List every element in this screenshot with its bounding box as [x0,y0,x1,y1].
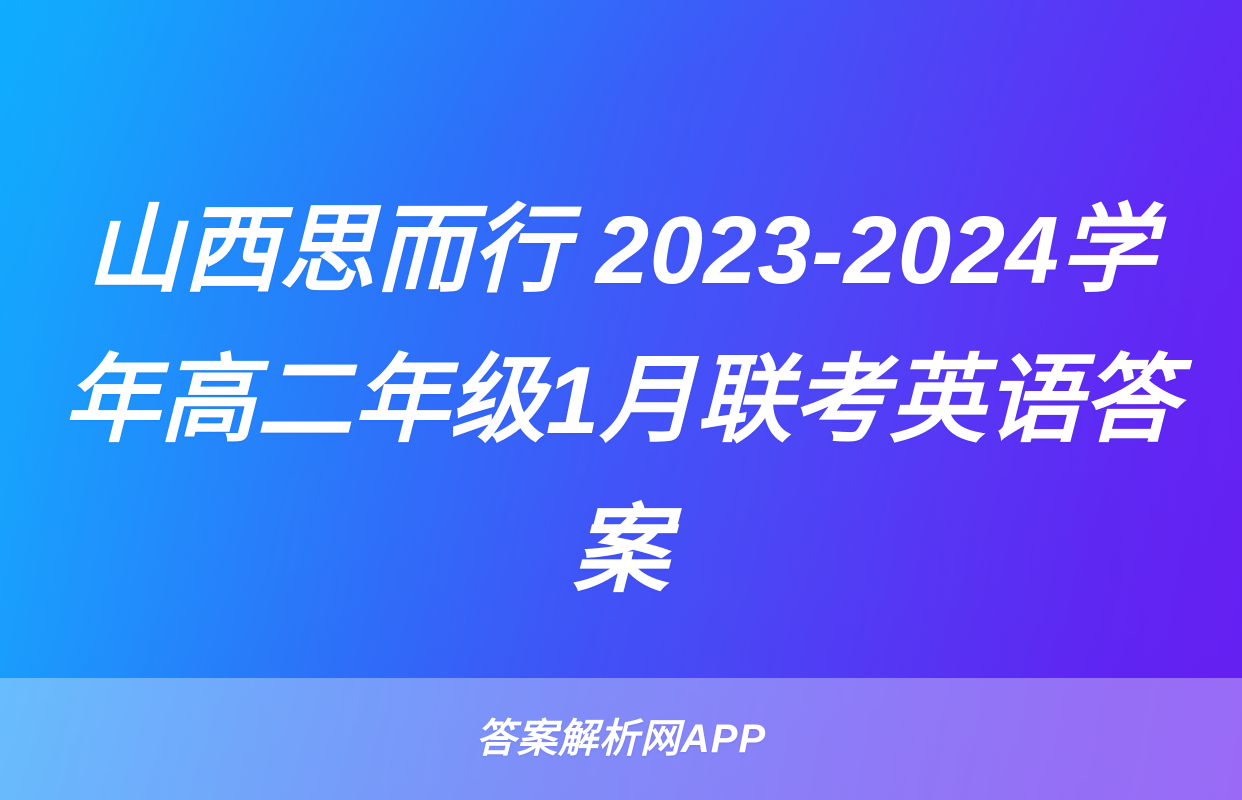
watermark-band: 答案解析网APP [0,678,1242,800]
answer-banner: 山西思而行 2023-2024学年高二年级1月联考英语答案 答案解析网APP [0,0,1242,800]
page-title-text: 山西思而行 2023-2024学年高二年级1月联考英语答案 [60,176,1182,626]
page-title: 山西思而行 2023-2024学年高二年级1月联考英语答案 [0,176,1242,626]
watermark-label: 答案解析网APP [476,719,766,759]
